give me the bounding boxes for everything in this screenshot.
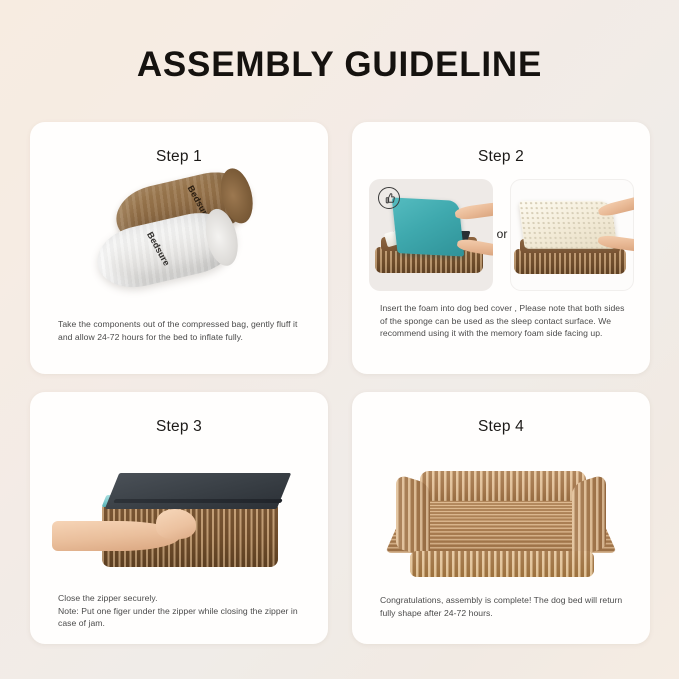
bed-left-bolster [396,474,430,558]
step-card-2: Step 2 or [352,122,650,374]
step-4-title: Step 4 [352,417,650,437]
step-2-illustration: or [352,175,650,300]
bed-right-bolster [572,474,606,558]
step-1-title: Step 1 [30,147,328,167]
step-2-caption: Insert the foam into dog bed cover , Ple… [380,302,628,340]
step-card-3: Step 3 Close the zipper securely. Note: … [30,392,328,644]
step-2-separator: or [493,227,511,241]
thumbs-up-icon [378,187,400,209]
step-1-caption: Take the components out of the compresse… [58,318,306,343]
bed-back-bolster [420,471,586,501]
roll-texture [91,205,241,295]
steps-grid: Step 1 Bedsure COMFORT Bedsure COMFORT T… [30,122,650,644]
step-2-title: Step 2 [352,147,650,167]
hand-upper [597,196,634,218]
step-4-caption: Congratulations, assembly is complete! T… [380,594,628,619]
step-4-illustration [352,449,650,599]
hand-upper [454,202,493,221]
step-2-tile-memory-foam [510,179,634,291]
hand-fingers [156,509,196,539]
zipper [113,499,283,503]
bed-front-rail [410,551,594,577]
white-foam-roll-image: Bedsure COMFORT [91,205,241,295]
step-card-4: Step 4 Congratulations, assembly is comp… [352,392,650,644]
page-title: ASSEMBLY GUIDELINE [0,44,679,86]
step-3-caption: Close the zipper securely. Note: Put one… [58,592,306,630]
step-3-illustration [30,447,328,597]
bed-top-panel [105,473,292,509]
step-card-1: Step 1 Bedsure COMFORT Bedsure COMFORT T… [30,122,328,374]
step-2-tile-teal-foam [369,179,493,291]
step-3-title: Step 3 [30,417,328,437]
step-1-illustration: Bedsure COMFORT Bedsure COMFORT [30,173,328,313]
teal-foam-panel [392,197,465,256]
